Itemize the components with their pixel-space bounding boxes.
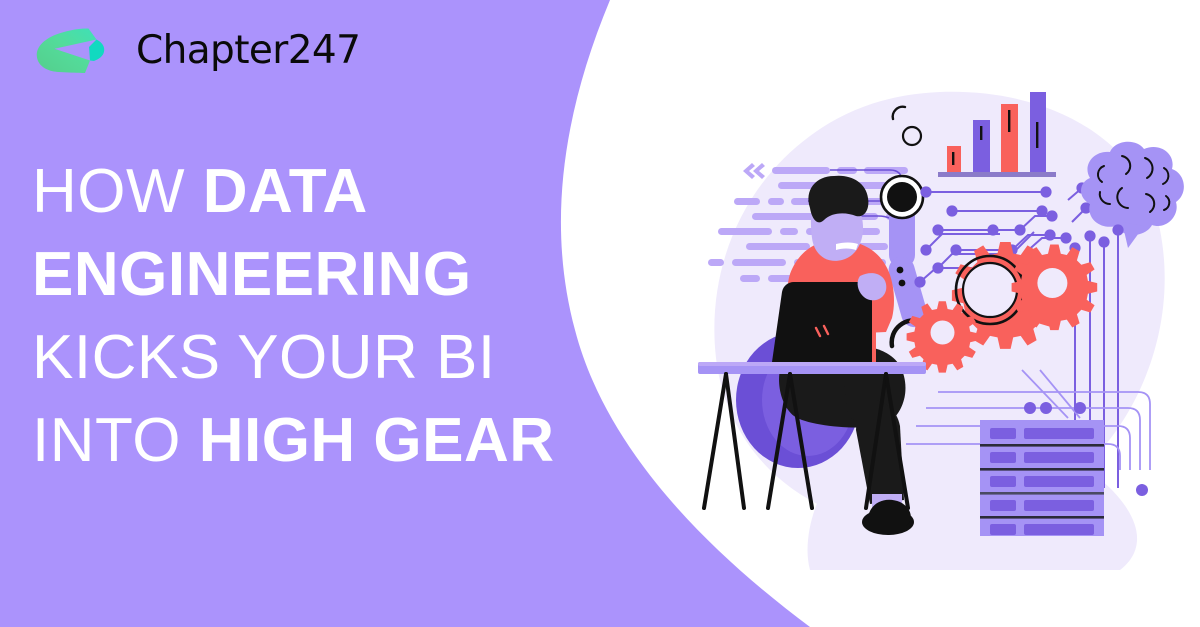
headline-line-4: INTO HIGH GEAR: [32, 399, 652, 482]
server-divider: [980, 444, 1104, 447]
headline-line-1-regular: HOW: [32, 157, 203, 226]
headline-line-1-bold: DATA: [203, 157, 368, 226]
data-engineering-illustration: [690, 70, 1190, 570]
laptop-screen: [772, 282, 872, 362]
page-title: HOW DATA ENGINEERING KICKS YOUR BI INTO …: [32, 150, 652, 482]
bar-4-marker: [1036, 122, 1038, 148]
arm-rivet: [897, 267, 904, 274]
bar-3-marker: [1008, 110, 1010, 132]
brand-wordmark: Chapter247: [136, 31, 360, 70]
server-slot-led: [990, 428, 1016, 439]
bar-chart-baseline: [938, 172, 1056, 177]
code-chevron-left-icon: [753, 163, 765, 179]
desk-top-highlight: [698, 362, 926, 366]
arm-rivet: [899, 280, 906, 287]
server-slot-led: [990, 500, 1016, 511]
server-slot-bar: [1024, 524, 1094, 535]
headline-line-2: ENGINEERING: [32, 233, 652, 316]
server-slot-bar: [1024, 428, 1094, 439]
brand-logo[interactable]: Chapter247: [30, 22, 360, 78]
banner: Chapter247 HOW DATA ENGINEERING KICKS YO…: [0, 0, 1200, 627]
server-divider: [980, 468, 1104, 471]
headline-line-3-regular: KICKS YOUR BI: [32, 323, 496, 392]
server-slot-led: [990, 476, 1016, 487]
bar-1-marker: [952, 152, 954, 165]
server-slot-led: [990, 452, 1016, 463]
server-slot-led: [990, 524, 1016, 535]
arm-joint-core: [887, 182, 917, 212]
headline-line-2-bold: ENGINEERING: [32, 240, 472, 309]
server-slot-bar: [1024, 452, 1094, 463]
headline-line-4-regular: INTO: [32, 406, 199, 475]
bar-2-marker: [980, 126, 982, 140]
server-divider: [980, 516, 1104, 519]
headline-line-3: KICKS YOUR BI: [32, 316, 652, 399]
chapter247-logo-icon: [30, 22, 126, 78]
server-divider: [980, 492, 1104, 495]
headline-line-4-bold: HIGH GEAR: [199, 406, 555, 475]
headline-line-1: HOW DATA: [32, 150, 652, 233]
server-slot-bar: [1024, 476, 1094, 487]
server-slot-bar: [1024, 500, 1094, 511]
